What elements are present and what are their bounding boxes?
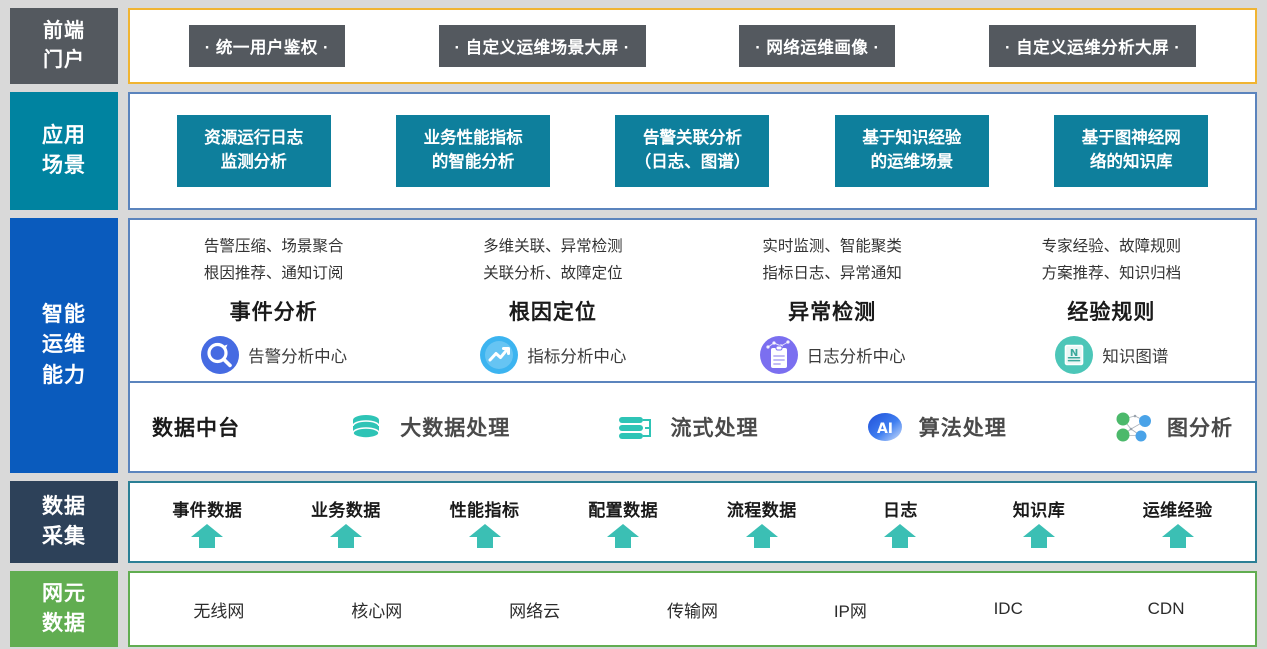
ops-feature-line: 指标日志、异常通知 <box>762 261 902 288</box>
data-platform-item-algorithm[interactable]: AI 算法处理 <box>863 407 1007 447</box>
app-card-line: 络的知识库 <box>1068 151 1194 175</box>
app-card-line: 的运维场景 <box>849 151 975 175</box>
ops-feature-line: 告警压缩、场景聚合 <box>204 234 344 261</box>
collection-label: 配置数据 <box>588 496 658 521</box>
up-arrow-icon <box>606 523 640 549</box>
ops-feature-lines: 实时监测、智能聚类 指标日志、异常通知 <box>762 234 902 287</box>
network-item-core[interactable]: 核心网 <box>298 597 456 622</box>
collection-label: 流程数据 <box>727 496 797 521</box>
ops-product-label: 指标分析中心 <box>527 343 626 367</box>
collection-label: 日志 <box>883 496 918 521</box>
data-platform-title: 数据中台 <box>152 412 240 442</box>
app-card-line: （日志、图谱） <box>629 151 755 175</box>
app-card-line: 业务性能指标 <box>410 127 536 151</box>
collection-item-process-data[interactable]: 流程数据 <box>693 483 832 561</box>
network-item-idc[interactable]: IDC <box>929 599 1087 619</box>
collection-label: 事件数据 <box>172 496 242 521</box>
network-item-ip[interactable]: IP网 <box>771 597 929 622</box>
collection-item-event-data[interactable]: 事件数据 <box>138 483 277 561</box>
knowledge-graph-icon: N <box>1054 335 1094 375</box>
layer-label-line: 数据 <box>42 609 86 639</box>
app-card-line: 基于图神经网 <box>1068 127 1194 151</box>
ops-feature-line: 多维关联、异常检测 <box>483 234 623 261</box>
network-element-panel: 无线网 核心网 网络云 传输网 IP网 IDC CDN <box>128 571 1257 647</box>
ops-product-label: 告警分析中心 <box>248 343 347 367</box>
app-card-knowledge-experience[interactable]: 基于知识经验 的运维场景 <box>835 115 989 187</box>
portal-chip-user-auth[interactable]: · 统一用户鉴权 · <box>189 25 345 67</box>
collection-item-performance-metrics[interactable]: 性能指标 <box>415 483 554 561</box>
layer-label-line: 应用 <box>42 121 86 151</box>
application-panel: 资源运行日志 监测分析 业务性能指标 的智能分析 告警关联分析 （日志、图谱） … <box>128 92 1257 210</box>
app-card-line: 的智能分析 <box>410 151 536 175</box>
ops-column-title: 异常检测 <box>788 296 876 326</box>
collection-label: 业务数据 <box>311 496 381 521</box>
log-analysis-icon <box>759 335 799 375</box>
ops-feature-line: 方案推荐、知识归档 <box>1042 261 1182 288</box>
portal-chip-custom-ops-dashboard[interactable]: · 自定义运维场景大屏 · <box>439 25 646 67</box>
app-card-line: 基于知识经验 <box>849 127 975 151</box>
ops-product-label: 日志分析中心 <box>807 343 906 367</box>
up-arrow-icon <box>745 523 779 549</box>
portal-chip-custom-analysis-dashboard[interactable]: · 自定义运维分析大屏 · <box>989 25 1196 67</box>
data-platform-item-graph[interactable]: 图分析 <box>1111 407 1233 447</box>
data-platform-label: 图分析 <box>1167 412 1233 442</box>
portal-chip-network-ops-profile[interactable]: · 网络运维画像 · <box>739 25 895 67</box>
ops-column-title: 经验规则 <box>1067 296 1155 326</box>
data-platform-label: 算法处理 <box>919 412 1007 442</box>
architecture-diagram: 前端 门户 · 统一用户鉴权 · · 自定义运维场景大屏 · · 网络运维画像 … <box>0 0 1267 649</box>
layer-label-line: 能力 <box>42 361 86 391</box>
up-arrow-icon <box>190 523 224 549</box>
ops-feature-line: 关联分析、故障定位 <box>483 261 623 288</box>
ops-product-log-analysis-center[interactable]: 日志分析中心 <box>759 335 906 375</box>
layer-intelligent-ops: 智能 运维 能力 告警压缩、场景聚合 根因推荐、通知订阅 事件分析 <box>10 218 1257 473</box>
ops-feature-lines: 多维关联、异常检测 关联分析、故障定位 <box>483 234 623 287</box>
app-card-alarm-correlation[interactable]: 告警关联分析 （日志、图谱） <box>615 115 769 187</box>
ops-feature-line: 专家经验、故障规则 <box>1042 234 1182 261</box>
data-platform-item-stream[interactable]: 流式处理 <box>615 407 759 447</box>
ops-product-knowledge-graph[interactable]: N 知识图谱 <box>1054 335 1168 375</box>
collection-item-ops-experience[interactable]: 运维经验 <box>1108 483 1247 561</box>
intelligent-ops-panel: 告警压缩、场景聚合 根因推荐、通知订阅 事件分析 <box>128 218 1257 383</box>
ops-column-root-cause: 多维关联、异常检测 关联分析、故障定位 根因定位 <box>413 234 692 375</box>
ops-feature-line: 根因推荐、通知订阅 <box>204 261 344 288</box>
collection-item-config-data[interactable]: 配置数据 <box>554 483 693 561</box>
graph-network-icon <box>1111 407 1155 447</box>
app-card-line: 资源运行日志 <box>191 127 317 151</box>
network-item-network-cloud[interactable]: 网络云 <box>456 597 614 622</box>
ops-feature-lines: 告警压缩、场景聚合 根因推荐、通知订阅 <box>204 234 344 287</box>
app-card-line: 监测分析 <box>191 151 317 175</box>
up-arrow-icon <box>883 523 917 549</box>
layer-front-portal: 前端 门户 · 统一用户鉴权 · · 自定义运维场景大屏 · · 网络运维画像 … <box>10 8 1257 84</box>
data-collection-panel: 事件数据 业务数据 性能指标 配置数据 <box>128 481 1257 563</box>
collection-label: 知识库 <box>1013 496 1066 521</box>
ops-column-experience-rules: 专家经验、故障规则 方案推荐、知识归档 经验规则 N <box>972 234 1251 375</box>
layer-label-front-portal: 前端 门户 <box>10 8 118 84</box>
layer-network-element-data: 网元 数据 无线网 核心网 网络云 传输网 IP网 IDC CDN <box>10 571 1257 647</box>
data-platform-label: 大数据处理 <box>400 412 510 442</box>
network-item-wireless[interactable]: 无线网 <box>140 597 298 622</box>
ops-column-title: 根因定位 <box>509 296 597 326</box>
collection-item-business-data[interactable]: 业务数据 <box>277 483 416 561</box>
data-platform-label: 流式处理 <box>671 412 759 442</box>
layer-label-application: 应用 场景 <box>10 92 118 210</box>
collection-label: 运维经验 <box>1143 496 1213 521</box>
ops-column-title: 事件分析 <box>230 296 318 326</box>
data-platform-item-bigdata[interactable]: 大数据处理 <box>344 407 510 447</box>
ops-column-anomaly-detection: 实时监测、智能聚类 指标日志、异常通知 异常检测 <box>693 234 972 375</box>
front-portal-panel: · 统一用户鉴权 · · 自定义运维场景大屏 · · 网络运维画像 · · 自定… <box>128 8 1257 84</box>
ops-feature-line: 实时监测、智能聚类 <box>762 234 902 261</box>
up-arrow-icon <box>1022 523 1056 549</box>
ops-product-metric-analysis-center[interactable]: 指标分析中心 <box>479 335 626 375</box>
layer-application-scenarios: 应用 场景 资源运行日志 监测分析 业务性能指标 的智能分析 告警关联分析 （日… <box>10 92 1257 210</box>
collection-label: 性能指标 <box>450 496 520 521</box>
app-card-graph-neural-network[interactable]: 基于图神经网 络的知识库 <box>1054 115 1208 187</box>
layer-data-collection: 数据 采集 事件数据 业务数据 性能指标 <box>10 481 1257 563</box>
database-icon <box>344 407 388 447</box>
up-arrow-icon <box>329 523 363 549</box>
collection-item-knowledge-base[interactable]: 知识库 <box>970 483 1109 561</box>
metric-analysis-icon <box>479 335 519 375</box>
app-card-resource-log[interactable]: 资源运行日志 监测分析 <box>177 115 331 187</box>
layer-label-network-element: 网元 数据 <box>10 571 118 647</box>
svg-text:AI: AI <box>877 421 893 437</box>
app-card-business-performance[interactable]: 业务性能指标 的智能分析 <box>396 115 550 187</box>
network-item-transport[interactable]: 传输网 <box>614 597 772 622</box>
stream-icon <box>615 407 659 447</box>
collection-item-logs[interactable]: 日志 <box>831 483 970 561</box>
layer-label-line: 前端 <box>43 17 85 46</box>
app-card-line: 告警关联分析 <box>629 127 755 151</box>
layer-label-line: 运维 <box>42 330 86 360</box>
alarm-analysis-icon <box>200 335 240 375</box>
layer-label-line: 场景 <box>42 151 86 181</box>
ops-column-event-analysis: 告警压缩、场景聚合 根因推荐、通知订阅 事件分析 <box>134 234 413 375</box>
layer-label-line: 采集 <box>42 522 86 552</box>
data-platform-panel: 数据中台 大数据处理 <box>128 383 1257 473</box>
ai-icon: AI <box>863 407 907 447</box>
layer-label-data-collection: 数据 采集 <box>10 481 118 563</box>
network-item-cdn[interactable]: CDN <box>1087 599 1245 619</box>
layer-label-line: 门户 <box>43 46 85 75</box>
ops-product-alarm-analysis-center[interactable]: 告警分析中心 <box>200 335 347 375</box>
ops-feature-lines: 专家经验、故障规则 方案推荐、知识归档 <box>1042 234 1182 287</box>
ops-product-label: 知识图谱 <box>1102 343 1168 367</box>
layer-label-line: 智能 <box>42 300 86 330</box>
layer-label-intelligent-ops: 智能 运维 能力 <box>10 218 118 473</box>
layer-label-line: 网元 <box>42 579 86 609</box>
up-arrow-icon <box>468 523 502 549</box>
up-arrow-icon <box>1161 523 1195 549</box>
layer-label-line: 数据 <box>42 492 86 522</box>
